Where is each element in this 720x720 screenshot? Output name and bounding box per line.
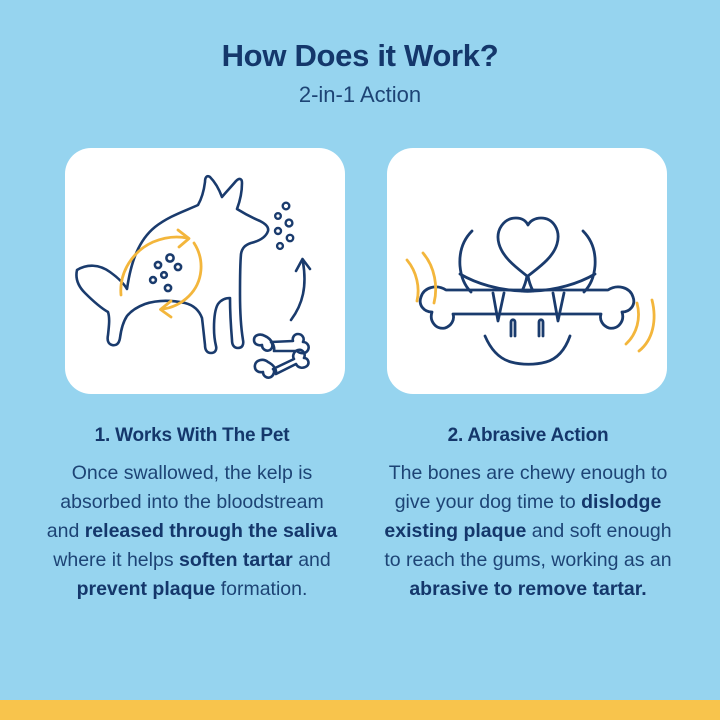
illustration-cards-row: [65, 148, 667, 394]
crossed-bones: [254, 334, 309, 378]
page-title: How Does it Work?: [0, 0, 720, 76]
emphasis-text: prevent plaque: [77, 578, 216, 600]
card-abrasive-action: [387, 148, 667, 394]
column-2-heading: 2. Abrasive Action: [378, 424, 678, 448]
upper-jowl-right: [583, 231, 595, 292]
upper-jowl-left: [460, 231, 472, 292]
body-text: where it helps: [53, 549, 179, 571]
emphasis-text: soften tartar: [179, 549, 293, 571]
heart-shaped-nose: [498, 218, 558, 276]
column-1-heading: 1. Works With The Pet: [42, 424, 342, 448]
fang-right: [553, 293, 564, 321]
fang-left: [493, 293, 504, 321]
emphasis-text: abrasive to remove tartar.: [409, 578, 646, 600]
header: How Does it Work? 2-in-1 Action: [0, 0, 720, 109]
column-abrasive-action: 2. Abrasive Action The bones are chewy e…: [378, 424, 678, 604]
bottom-accent-band: [0, 700, 720, 720]
rising-bubble-trail: [275, 203, 293, 249]
column-2-body: The bones are chewy enough to give your …: [378, 448, 678, 604]
infographic-page: How Does it Work? 2-in-1 Action: [0, 0, 720, 720]
lower-tooth-right: [539, 320, 543, 336]
emphasis-text: released through the saliva: [85, 520, 338, 542]
card-works-with-the-pet: [65, 148, 345, 394]
body-text: formation.: [215, 578, 307, 600]
sitting-dog-digestion-illustration: [65, 148, 345, 394]
tongue: [485, 336, 570, 364]
upward-arrow: [291, 259, 310, 320]
page-subtitle: 2-in-1 Action: [0, 76, 720, 109]
body-text: and: [293, 549, 331, 571]
text-columns: 1. Works With The Pet Once swallowed, th…: [42, 424, 678, 604]
dog-mouth-chewing-bone-illustration: [387, 148, 667, 394]
column-works-with-the-pet: 1. Works With The Pet Once swallowed, th…: [42, 424, 342, 604]
lower-tooth-left: [511, 320, 515, 336]
column-1-body: Once swallowed, the kelp is absorbed int…: [42, 448, 342, 604]
chew-bone: [420, 287, 634, 328]
